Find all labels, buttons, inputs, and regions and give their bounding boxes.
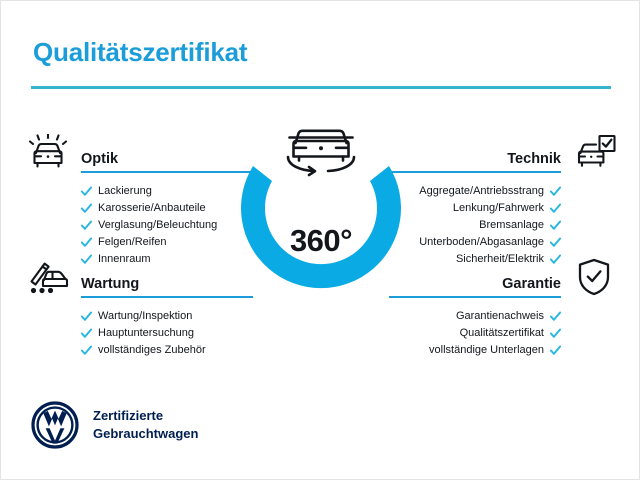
list-item: Bremsanlage bbox=[389, 217, 619, 234]
section-header-garantie: Garantie bbox=[389, 256, 619, 298]
check-icon bbox=[81, 345, 92, 356]
section-header-technik: Technik bbox=[389, 131, 619, 173]
checklist-wartung: Wartung/Inspektion Hauptuntersuchung vol… bbox=[23, 298, 253, 359]
list-item-label: Felgen/Reifen bbox=[98, 237, 167, 248]
section-wartung: Wartung Wartung/Inspektion Hauptuntersuc… bbox=[23, 256, 253, 359]
checklist-optik: Lackierung Karosserie/Anbauteile Verglas… bbox=[23, 173, 253, 268]
checklist-technik: Aggregate/Antriebsstrang Lenkung/Fahrwer… bbox=[389, 173, 619, 268]
check-icon bbox=[550, 220, 561, 231]
list-item-label: Verglasung/Beleuchtung bbox=[98, 220, 217, 231]
page-title: Qualitätszertifikat bbox=[33, 37, 247, 68]
check-icon bbox=[81, 203, 92, 214]
list-item: Lenkung/Fahrwerk bbox=[389, 200, 619, 217]
car-rotate-360-icon bbox=[288, 131, 354, 175]
car-checkbox-icon bbox=[569, 131, 619, 173]
check-icon bbox=[550, 345, 561, 356]
section-header-wartung: Wartung bbox=[23, 256, 253, 298]
vw-footer-line2: Gebrauchtwagen bbox=[93, 425, 198, 443]
list-item: Felgen/Reifen bbox=[23, 234, 253, 251]
check-icon bbox=[81, 311, 92, 322]
list-item-label: Unterboden/Abgasanlage bbox=[419, 237, 544, 248]
list-item: vollständige Unterlagen bbox=[389, 342, 619, 359]
list-item-label: Aggregate/Antriebsstrang bbox=[419, 186, 544, 197]
gebrauchtwagen-check-badge: Gebrauchtwagen-Check 360° bbox=[223, 119, 419, 315]
vw-logo-icon bbox=[31, 401, 79, 449]
qualitaetszertifikat-page: Qualitätszertifikat Optik Lackierung bbox=[0, 0, 640, 480]
list-item: Unterboden/Abgasanlage bbox=[389, 234, 619, 251]
check-icon bbox=[81, 186, 92, 197]
list-item-label: vollständige Unterlagen bbox=[429, 345, 544, 356]
check-icon bbox=[81, 328, 92, 339]
list-item: Qualitätszertifikat bbox=[389, 325, 619, 342]
list-item: Hauptuntersuchung bbox=[23, 325, 253, 342]
badge-ring-svg: Gebrauchtwagen-Check bbox=[223, 119, 419, 315]
section-title-garantie: Garantie bbox=[502, 276, 561, 292]
check-icon bbox=[81, 220, 92, 231]
section-title-wartung: Wartung bbox=[81, 276, 139, 292]
section-technik: Technik Aggregate/Antriebsstrang Lenkung… bbox=[389, 131, 619, 268]
list-item-label: Garantienachweis bbox=[456, 311, 544, 322]
section-optik: Optik Lackierung Karosserie/Anbauteile V… bbox=[23, 131, 253, 268]
list-item: vollständiges Zubehör bbox=[23, 342, 253, 359]
section-title-technik: Technik bbox=[507, 151, 561, 167]
list-item-label: Bremsanlage bbox=[479, 220, 544, 231]
list-item-label: Karosserie/Anbauteile bbox=[98, 203, 206, 214]
section-garantie: Garantie Garantienachweis Qualitätszerti… bbox=[389, 256, 619, 359]
title-divider bbox=[31, 86, 611, 89]
check-icon bbox=[550, 237, 561, 248]
list-item: Karosserie/Anbauteile bbox=[23, 200, 253, 217]
car-wrench-icon bbox=[23, 256, 73, 298]
check-icon bbox=[550, 311, 561, 322]
shield-check-icon bbox=[569, 256, 619, 298]
list-item: Verglasung/Beleuchtung bbox=[23, 217, 253, 234]
list-item: Aggregate/Antriebsstrang bbox=[389, 183, 619, 200]
list-item: Garantienachweis bbox=[389, 308, 619, 325]
car-shine-icon bbox=[23, 131, 73, 173]
list-item-label: Hauptuntersuchung bbox=[98, 328, 194, 339]
vw-footer-line1: Zertifizierte bbox=[93, 407, 198, 425]
section-title-optik: Optik bbox=[81, 151, 118, 167]
check-icon bbox=[550, 203, 561, 214]
list-item: Lackierung bbox=[23, 183, 253, 200]
list-item: Wartung/Inspektion bbox=[23, 308, 253, 325]
vw-footer: Zertifizierte Gebrauchtwagen bbox=[31, 401, 198, 449]
list-item-label: Qualitätszertifikat bbox=[460, 328, 544, 339]
list-item-label: Lackierung bbox=[98, 186, 152, 197]
check-icon bbox=[550, 328, 561, 339]
checklist-garantie: Garantienachweis Qualitätszertifikat vol… bbox=[389, 298, 619, 359]
badge-center-label: 360° bbox=[223, 223, 419, 259]
list-item-label: Lenkung/Fahrwerk bbox=[453, 203, 544, 214]
vw-footer-text: Zertifizierte Gebrauchtwagen bbox=[93, 407, 198, 442]
section-header-optik: Optik bbox=[23, 131, 253, 173]
list-item-label: vollständiges Zubehör bbox=[98, 345, 206, 356]
check-icon bbox=[81, 237, 92, 248]
check-icon bbox=[550, 186, 561, 197]
list-item-label: Wartung/Inspektion bbox=[98, 311, 192, 322]
